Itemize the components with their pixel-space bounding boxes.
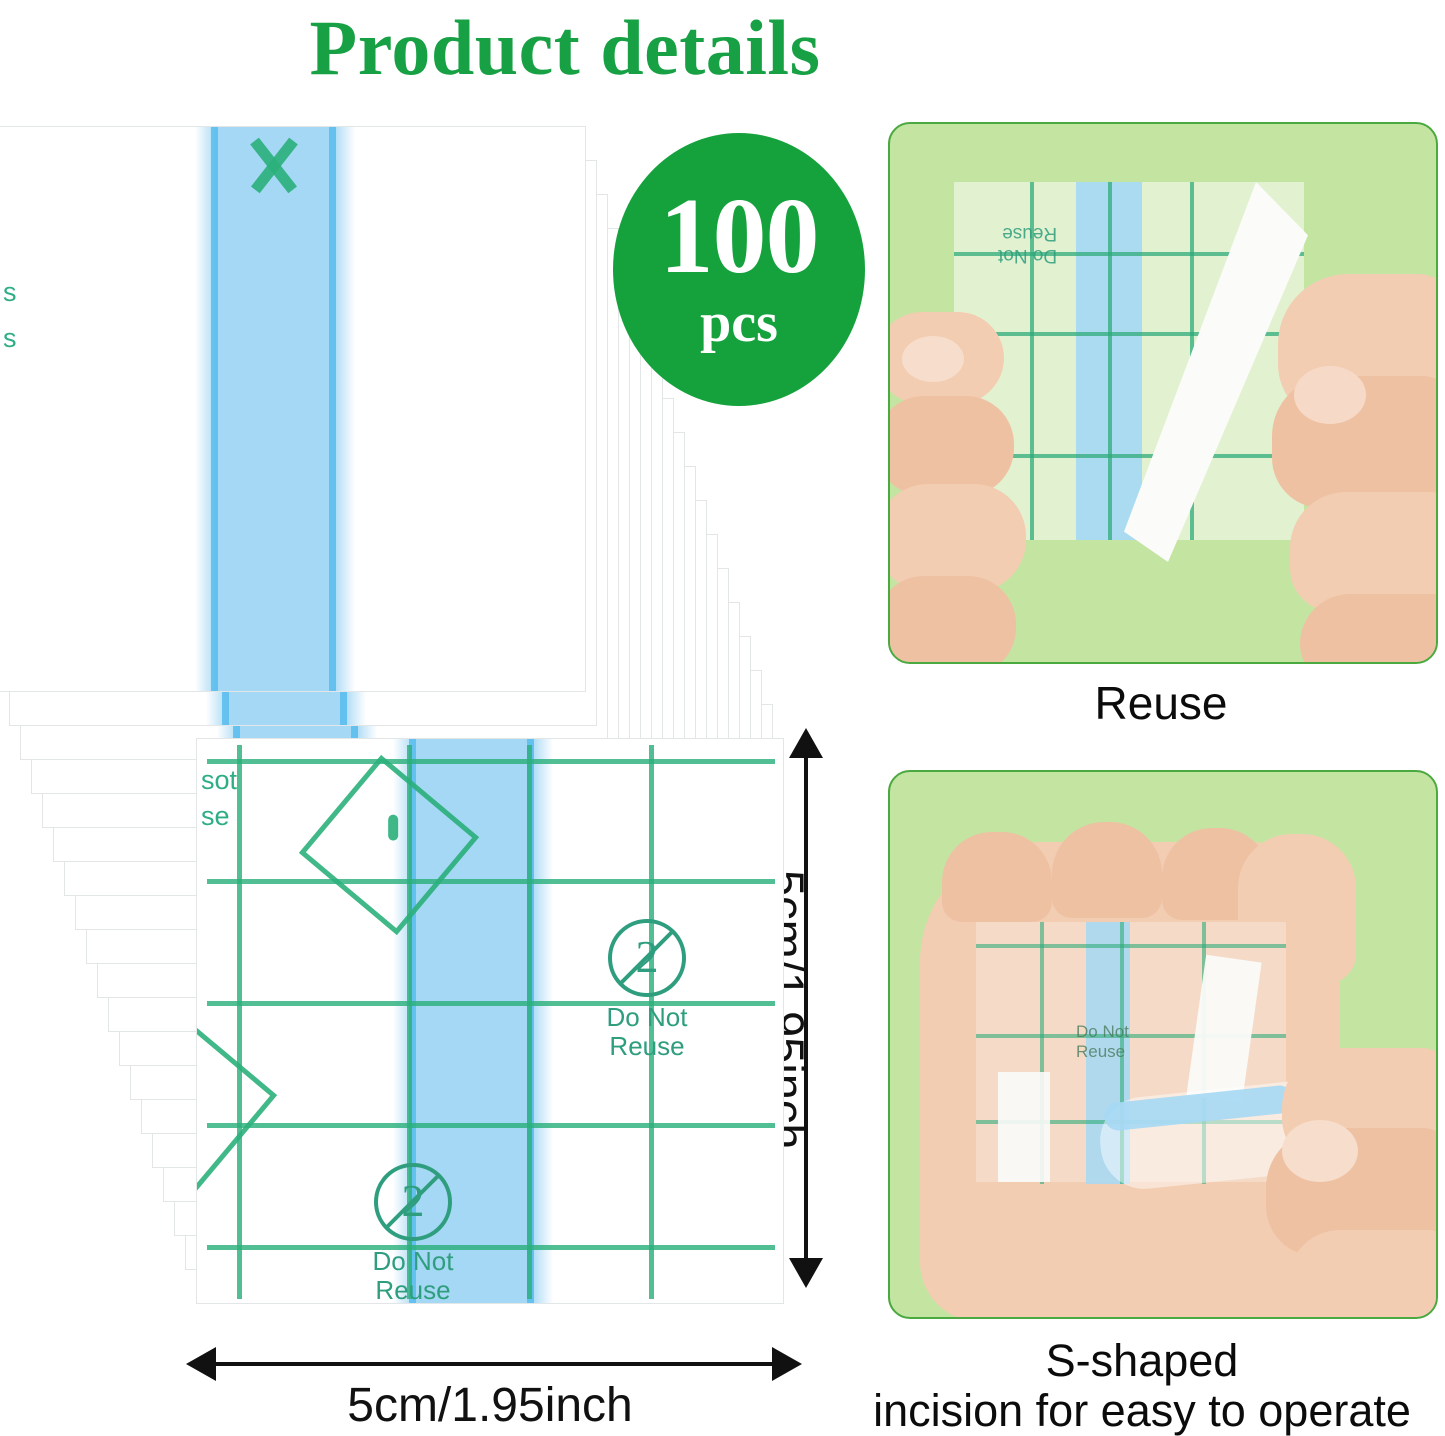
grid-line-h <box>207 1245 775 1250</box>
grid-line-v <box>1108 182 1112 540</box>
caption-s-shaped-line1: S-shaped <box>846 1336 1438 1386</box>
grid-line-h <box>207 759 775 764</box>
grid-line-h <box>976 944 1286 948</box>
page-title: Product details <box>0 2 1130 94</box>
liner-strip-left <box>998 1072 1050 1182</box>
caption-reuse: Reuse <box>888 676 1434 730</box>
caption-s-shaped: S-shaped incision for easy to operate <box>846 1336 1438 1436</box>
caption-s-shaped-line2: incision for easy to operate <box>846 1386 1438 1436</box>
do-not-reuse-line2: Reuse <box>343 1276 483 1304</box>
edge-fragment-s: s <box>3 323 17 353</box>
knuckle <box>942 832 1052 922</box>
bandage-sheet: ss <box>0 126 586 692</box>
blue-stripe-line-right <box>329 126 336 692</box>
do-not-reuse-mark: 2 Do Not Reuse <box>577 919 717 1061</box>
do-not-reuse-line1: Do Not <box>577 1003 717 1032</box>
photo-panel-reuse: Do NotReuse <box>888 122 1438 664</box>
no-reuse-icon: 2 <box>374 1163 452 1241</box>
grid-line-h <box>207 1123 775 1128</box>
blue-stripe-line-left <box>211 126 218 692</box>
quantity-badge-unit: pcs <box>700 293 778 353</box>
do-not-reuse-line1: Do Not <box>343 1247 483 1276</box>
quantity-badge: 100 pcs <box>613 133 865 406</box>
dimension-width-label: 5cm/1.95inch <box>180 1378 800 1433</box>
finger <box>1288 1230 1438 1319</box>
grid-line-v <box>237 745 242 1299</box>
photo-panel-s-shaped: Do NotReuse <box>888 770 1438 1319</box>
finger <box>888 576 1016 664</box>
edge-fragment-s: s <box>3 277 17 307</box>
grid-line-h <box>207 879 775 884</box>
chevron-down-icon <box>235 141 313 193</box>
edge-fragment-se: se <box>201 801 230 831</box>
fingernail <box>902 336 964 382</box>
bandage-front-sheet: 2 Do Not Reuse 2 Do Not Reuse sot se <box>196 738 784 1304</box>
do-not-reuse-line2: Reuse <box>577 1032 717 1061</box>
finger <box>1300 594 1438 664</box>
dressing-do-not-reuse-label: Do NotReuse <box>998 222 1057 266</box>
grid-line-v <box>527 745 532 1299</box>
applied-do-not-reuse-label: Do NotReuse <box>1076 1022 1129 1062</box>
finger <box>888 396 1014 496</box>
quantity-badge-count: 100 <box>660 187 819 287</box>
fingernail <box>1294 366 1366 424</box>
no-reuse-icon: 2 <box>608 919 686 997</box>
do-not-reuse-mark: 2 Do Not Reuse <box>343 1163 483 1304</box>
knuckle <box>1052 822 1162 918</box>
fingernail <box>1282 1120 1358 1182</box>
edge-fragment-sot: sot <box>201 765 237 795</box>
